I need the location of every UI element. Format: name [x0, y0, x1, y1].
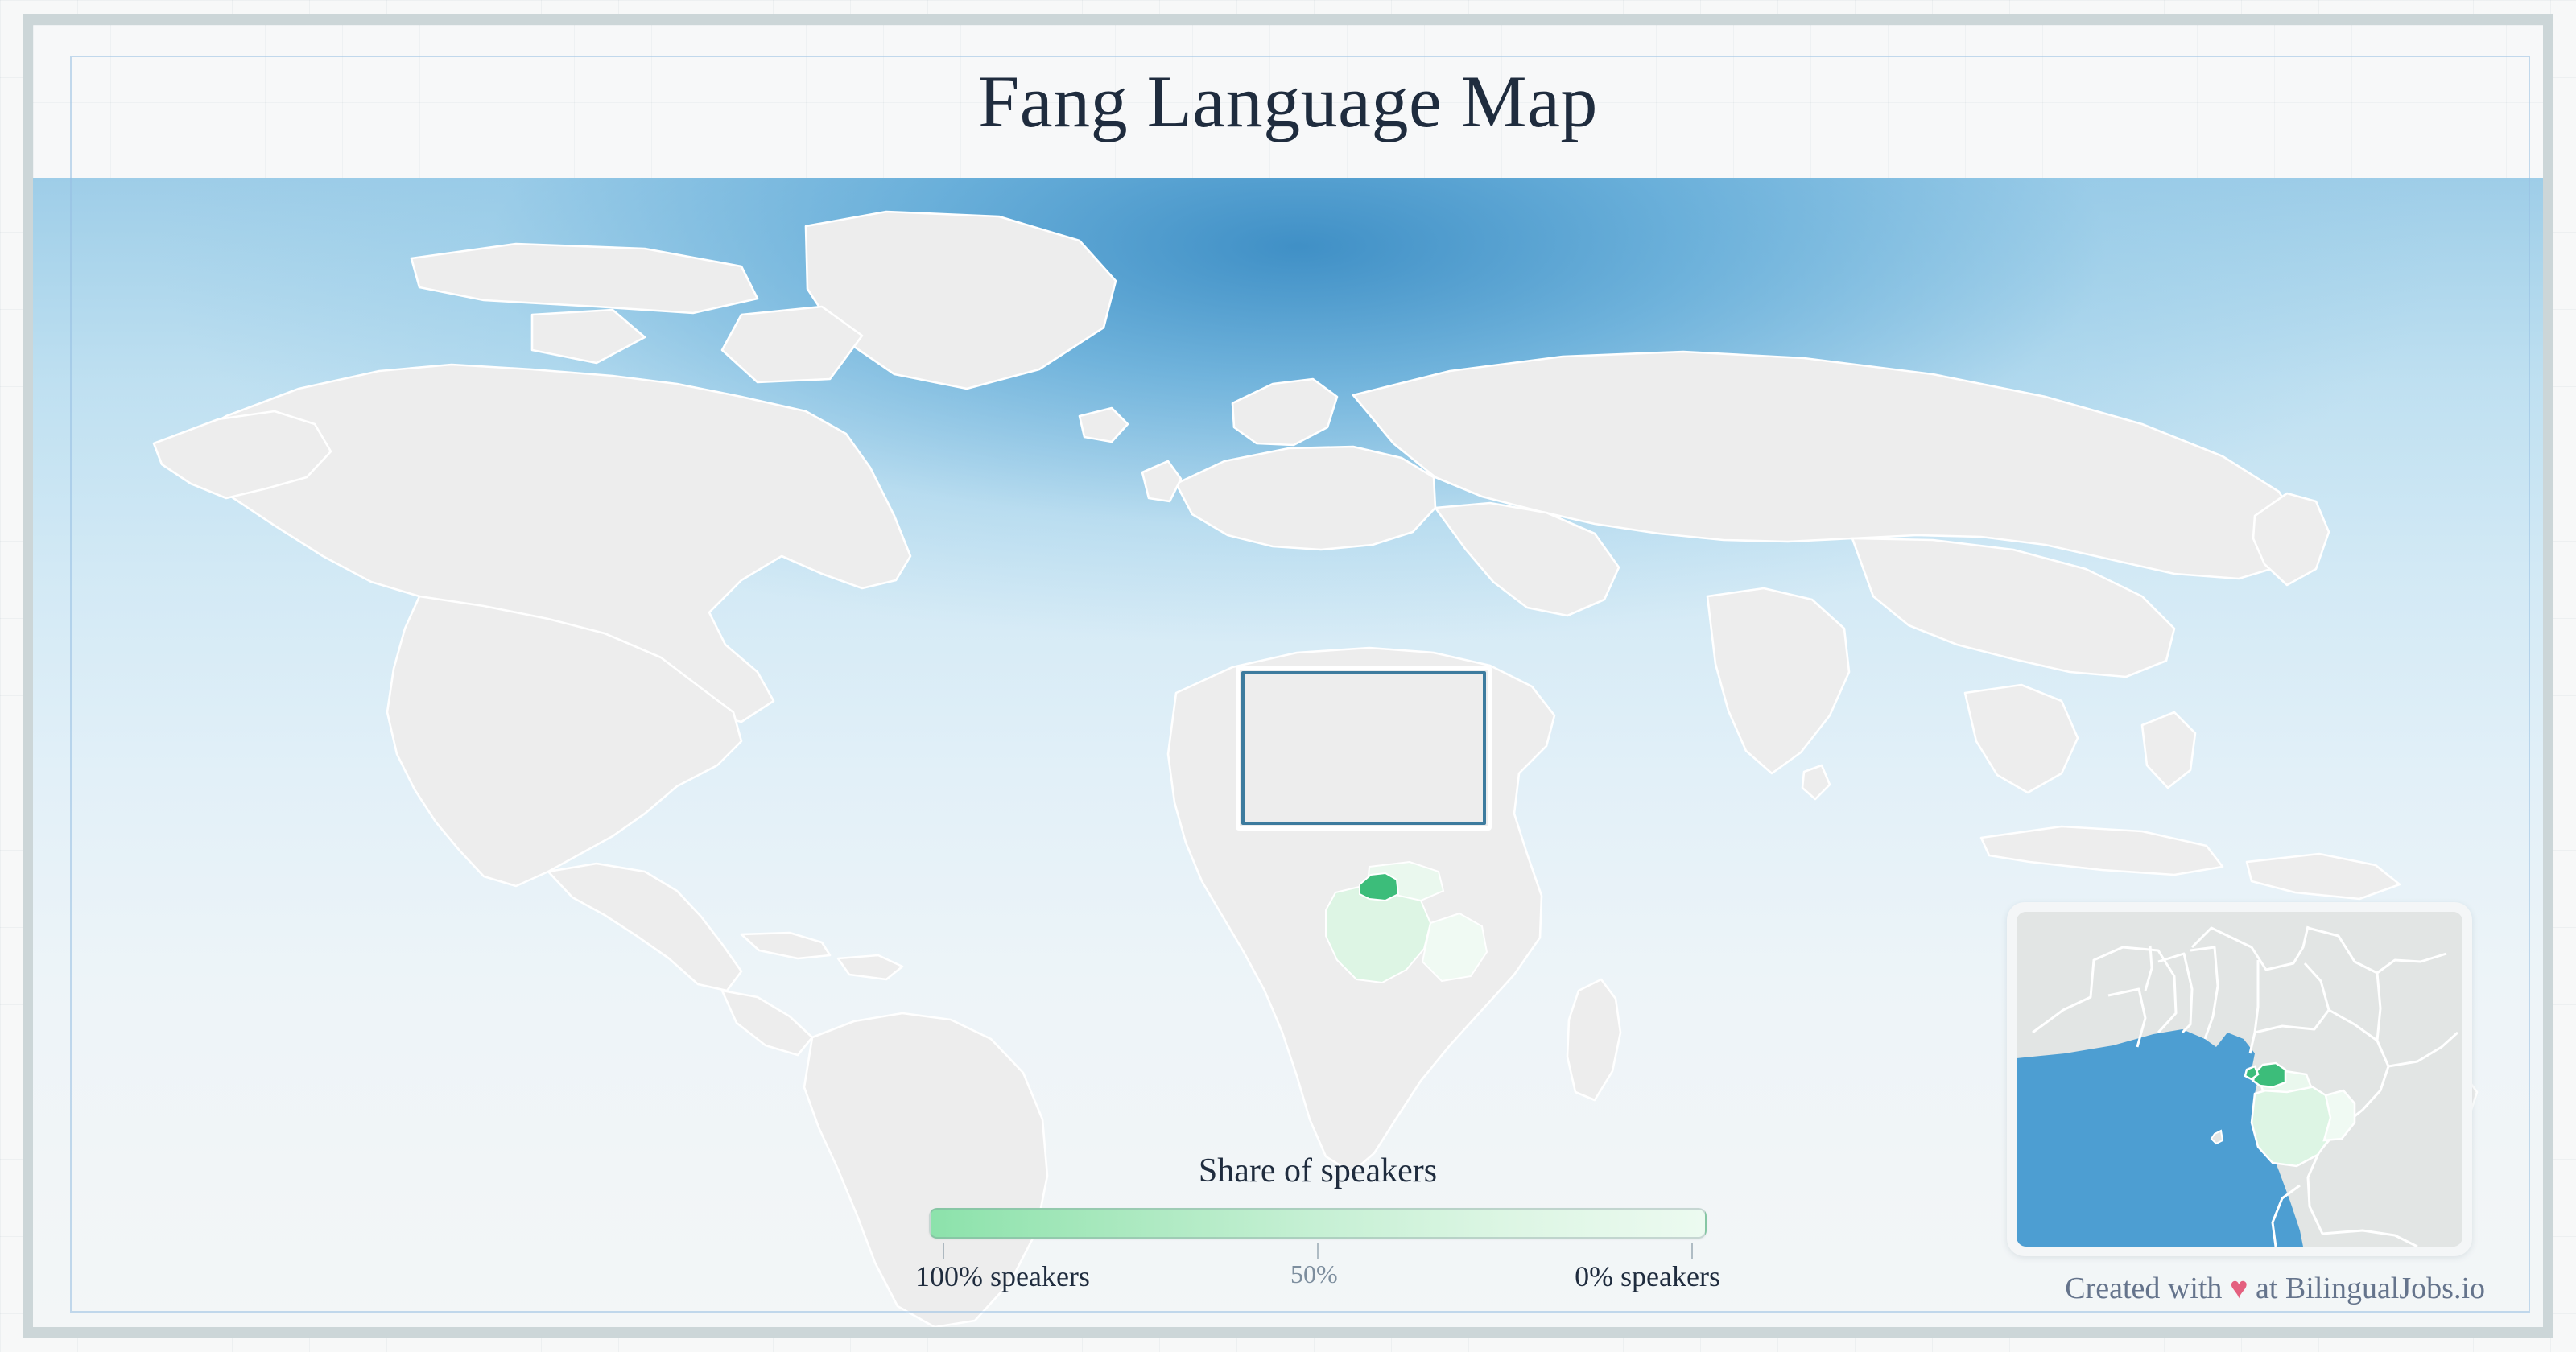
island-britain [1142, 461, 1181, 501]
heart-icon: ♥ [2230, 1272, 2248, 1305]
legend: Share of speakers 100% speakers 50% 0% s… [915, 1152, 1720, 1300]
region-india [1707, 588, 1849, 773]
country-canada-arctic [411, 244, 758, 313]
island-caribbean [838, 955, 902, 979]
country-mexico [548, 864, 741, 991]
legend-tick-0 [1691, 1243, 1693, 1259]
central-africa-focus-rect[interactable] [1236, 666, 1492, 831]
legend-ticks [929, 1239, 1707, 1259]
legend-labels: 100% speakers 50% 0% speakers [915, 1259, 1720, 1300]
country-greenland [806, 212, 1116, 389]
page-title: Fang Language Map [978, 59, 1598, 144]
header-bar: Fang Language Map [33, 25, 2543, 178]
island-madagascar [1567, 979, 1620, 1100]
legend-label-50: 50% [1290, 1259, 1338, 1289]
legend-gradient-bar[interactable] [929, 1208, 1707, 1239]
legend-label-0: 0% speakers [1575, 1259, 1720, 1293]
footer-credit: Created with ♥ at BilingualJobs.io [2065, 1271, 2485, 1306]
island-philippines [2142, 712, 2195, 788]
map-card: Fang Language Map [23, 14, 2553, 1338]
legend-title: Share of speakers [915, 1152, 1720, 1190]
central-africa-inset[interactable] [2007, 902, 2472, 1256]
inset-frame [2017, 912, 2462, 1247]
region-europe [1176, 447, 1435, 550]
island-indonesia [1981, 826, 2223, 875]
island-new-guinea [2247, 854, 2400, 899]
footer-prefix: Created with [2065, 1272, 2230, 1305]
region-central-america [722, 991, 812, 1055]
island-victoria [532, 310, 645, 363]
island-iceland [1080, 408, 1128, 442]
inset-map-svg [2017, 912, 2462, 1247]
island-sri-lanka [1802, 765, 1830, 799]
island-cuba [741, 933, 830, 958]
region-southeast-asia [1965, 685, 2078, 793]
footer-suffix: at BilingualJobs.io [2248, 1272, 2486, 1305]
island-scandinavia [1232, 379, 1337, 445]
legend-tick-50 [1317, 1243, 1319, 1259]
legend-tick-100 [943, 1243, 944, 1259]
legend-label-100: 100% speakers [915, 1259, 1090, 1293]
